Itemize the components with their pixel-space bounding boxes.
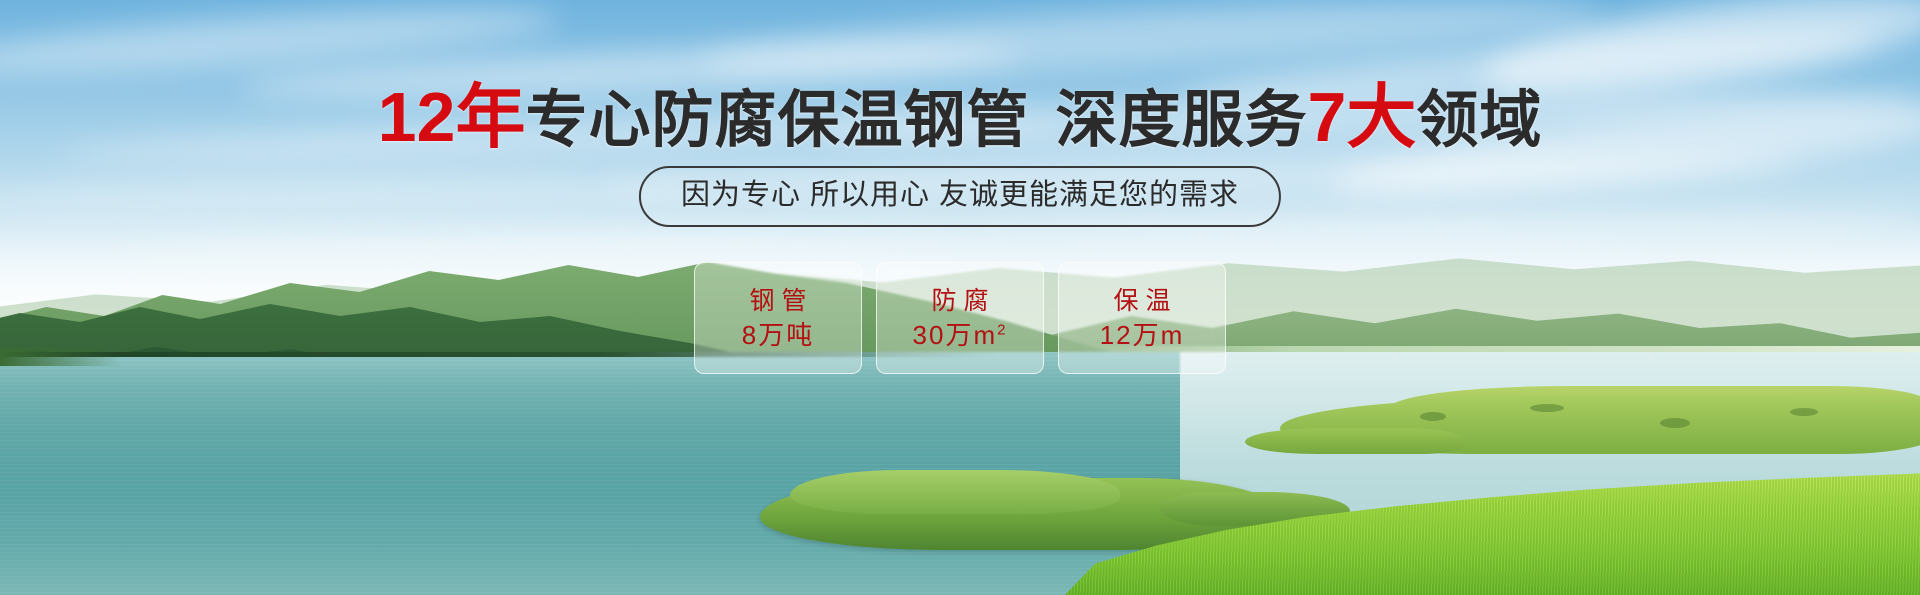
- banner-subtitle-text: 因为专心 所以用心 友诚更能满足您的需求: [681, 179, 1239, 211]
- headline-accent-seven: 7大: [1307, 78, 1416, 156]
- stat-card-superscript: 2: [997, 321, 1007, 338]
- headline-segment-3: 领域: [1416, 86, 1542, 155]
- stat-card-value: 12万m: [1100, 322, 1185, 348]
- headline-segment-1: 专心防腐保温钢管: [525, 86, 1029, 155]
- stat-card[interactable]: 防腐 30万m2: [876, 262, 1044, 374]
- headline-years-number: 12: [378, 78, 456, 156]
- banner-headline: 12年专心防腐保温钢管深度服务7大领域: [0, 82, 1920, 152]
- banner-subtitle-pill: 因为专心 所以用心 友诚更能满足您的需求: [639, 166, 1281, 227]
- banner-content: 12年专心防腐保温钢管深度服务7大领域 因为专心 所以用心 友诚更能满足您的需求…: [0, 0, 1920, 595]
- stat-card[interactable]: 保温 12万m: [1058, 262, 1226, 374]
- stat-card-label: 钢管: [742, 289, 813, 314]
- hero-banner: 12年专心防腐保温钢管深度服务7大领域 因为专心 所以用心 友诚更能满足您的需求…: [0, 0, 1920, 595]
- stat-card[interactable]: 钢管 8万吨: [694, 262, 862, 374]
- stat-card-value: 30万m2: [913, 322, 1008, 348]
- stat-card-group: 钢管 8万吨 防腐 30万m2 保温 12万m: [694, 262, 1226, 374]
- stat-card-label: 保温: [1106, 289, 1177, 314]
- headline-segment-2: 深度服务: [1055, 86, 1307, 155]
- headline-years-unit: 年: [455, 78, 525, 156]
- stat-card-label: 防腐: [924, 289, 995, 314]
- stat-card-value: 8万吨: [742, 322, 814, 348]
